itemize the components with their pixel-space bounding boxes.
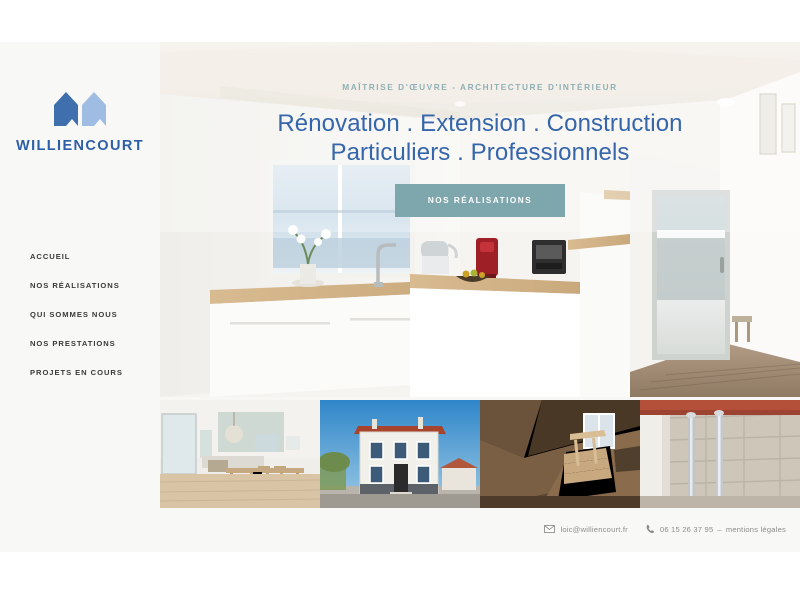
- double-chevron-logo-icon: [54, 92, 106, 126]
- thumbnail-metal-railing[interactable]: [640, 400, 800, 508]
- footer-legal-link[interactable]: mentions légales: [726, 525, 786, 534]
- thumbnail-wooden-staircase[interactable]: [480, 400, 640, 508]
- living-dining-room-photo: [160, 400, 320, 508]
- phone-icon: [646, 524, 655, 534]
- thumbnail-house-exterior[interactable]: [320, 400, 480, 508]
- nav-item-projets-en-cours[interactable]: PROJETS EN COURS: [30, 368, 160, 377]
- footer-separator: –: [717, 525, 721, 534]
- nav-item-qui-sommes-nous[interactable]: QUI SOMMES NOUS: [30, 310, 160, 319]
- hero-text-block: MAÎTRISE D'ŒUVRE - ARCHITECTURE D'INTÉRI…: [160, 82, 800, 217]
- brand-wordmark: WILLIENCOURT: [0, 138, 160, 154]
- envelope-icon: [544, 525, 555, 533]
- footer-contact-info: loic@williencourt.fr 06 15 26 37 95 – me…: [544, 524, 786, 534]
- footer-bar: loic@williencourt.fr 06 15 26 37 95 – me…: [160, 508, 800, 552]
- footer-phone[interactable]: 06 15 26 37 95: [646, 524, 713, 534]
- nav-item-accueil[interactable]: ACCUEIL: [30, 252, 160, 261]
- thumbnail-strip: [160, 400, 800, 508]
- hero-title-line-1: Rénovation . Extension . Construction: [160, 109, 800, 138]
- footer-email-text: loic@williencourt.fr: [560, 525, 627, 534]
- house-exterior-photo: [320, 400, 480, 508]
- nos-realisations-button[interactable]: NOS RÉALISATIONS: [395, 184, 565, 217]
- wooden-staircase-photo: [480, 400, 640, 508]
- page-canvas: WILLIENCOURT ACCUEIL NOS RÉALISATIONS QU…: [0, 42, 800, 552]
- hero-cta-wrapper: NOS RÉALISATIONS: [160, 184, 800, 217]
- hero-title-line-2: Particuliers . Professionnels: [160, 138, 800, 167]
- main-navigation: ACCUEIL NOS RÉALISATIONS QUI SOMMES NOUS…: [30, 252, 160, 397]
- nav-item-nos-realisations[interactable]: NOS RÉALISATIONS: [30, 281, 160, 290]
- hero-title: Rénovation . Extension . Construction Pa…: [160, 109, 800, 167]
- sidebar: WILLIENCOURT ACCUEIL NOS RÉALISATIONS QU…: [0, 42, 160, 552]
- nav-item-nos-prestations[interactable]: NOS PRESTATIONS: [30, 339, 160, 348]
- thumbnail-living-dining-room[interactable]: [160, 400, 320, 508]
- footer-email-link[interactable]: loic@williencourt.fr: [544, 525, 627, 534]
- footer-phone-text: 06 15 26 37 95: [660, 525, 713, 534]
- brand-logo[interactable]: WILLIENCOURT: [0, 92, 160, 154]
- hero-kicker: MAÎTRISE D'ŒUVRE - ARCHITECTURE D'INTÉRI…: [160, 82, 800, 92]
- metal-railing-photo: [640, 400, 800, 508]
